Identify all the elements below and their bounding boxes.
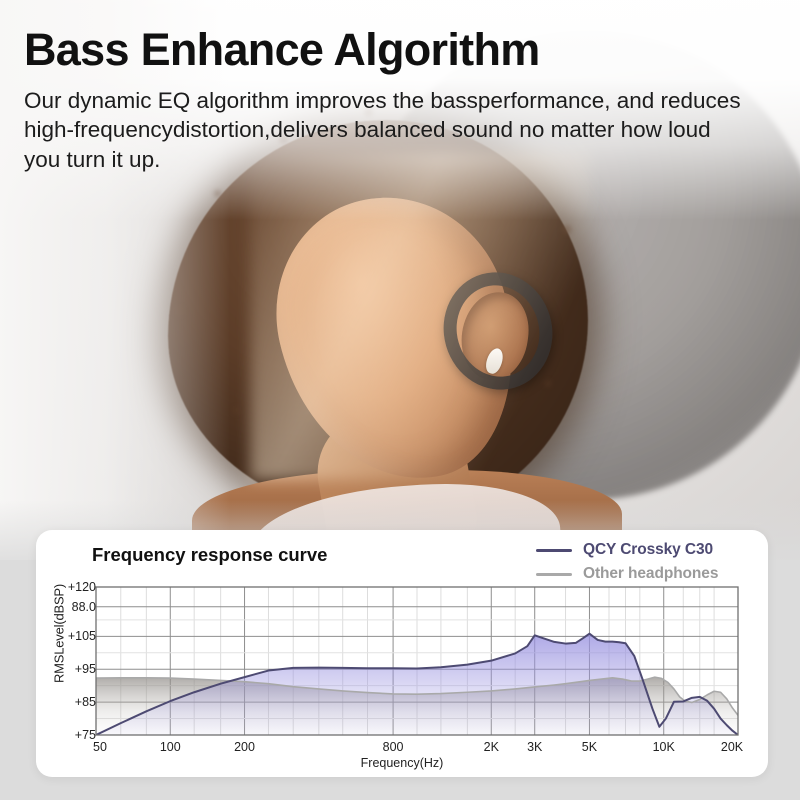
- x-axis-ticks: 501002008002K3K5K10K20K: [36, 530, 768, 777]
- x-tick-label: 5K: [582, 740, 597, 754]
- chart-plot-area: +12088.0+105+95+85+75 501002008002K3K5K1…: [36, 530, 768, 777]
- x-axis-label: Frequency(Hz): [36, 756, 768, 770]
- x-tick-label: 100: [160, 740, 181, 754]
- copy-block: Bass Enhance Algorithm Our dynamic EQ al…: [24, 26, 764, 175]
- x-tick-label: 800: [383, 740, 404, 754]
- x-tick-label: 20K: [721, 740, 743, 754]
- x-tick-label: 50: [93, 740, 107, 754]
- x-tick-label: 3K: [527, 740, 542, 754]
- page-subtitle: Our dynamic EQ algorithm improves the ba…: [24, 86, 744, 175]
- x-tick-label: 200: [234, 740, 255, 754]
- page-title: Bass Enhance Algorithm: [24, 26, 764, 74]
- y-axis-label: RMSLevel(dBSP): [52, 569, 67, 699]
- frequency-response-card: Frequency response curve QCY Crossky C30…: [36, 530, 768, 777]
- x-tick-label: 2K: [484, 740, 499, 754]
- x-tick-label: 10K: [653, 740, 675, 754]
